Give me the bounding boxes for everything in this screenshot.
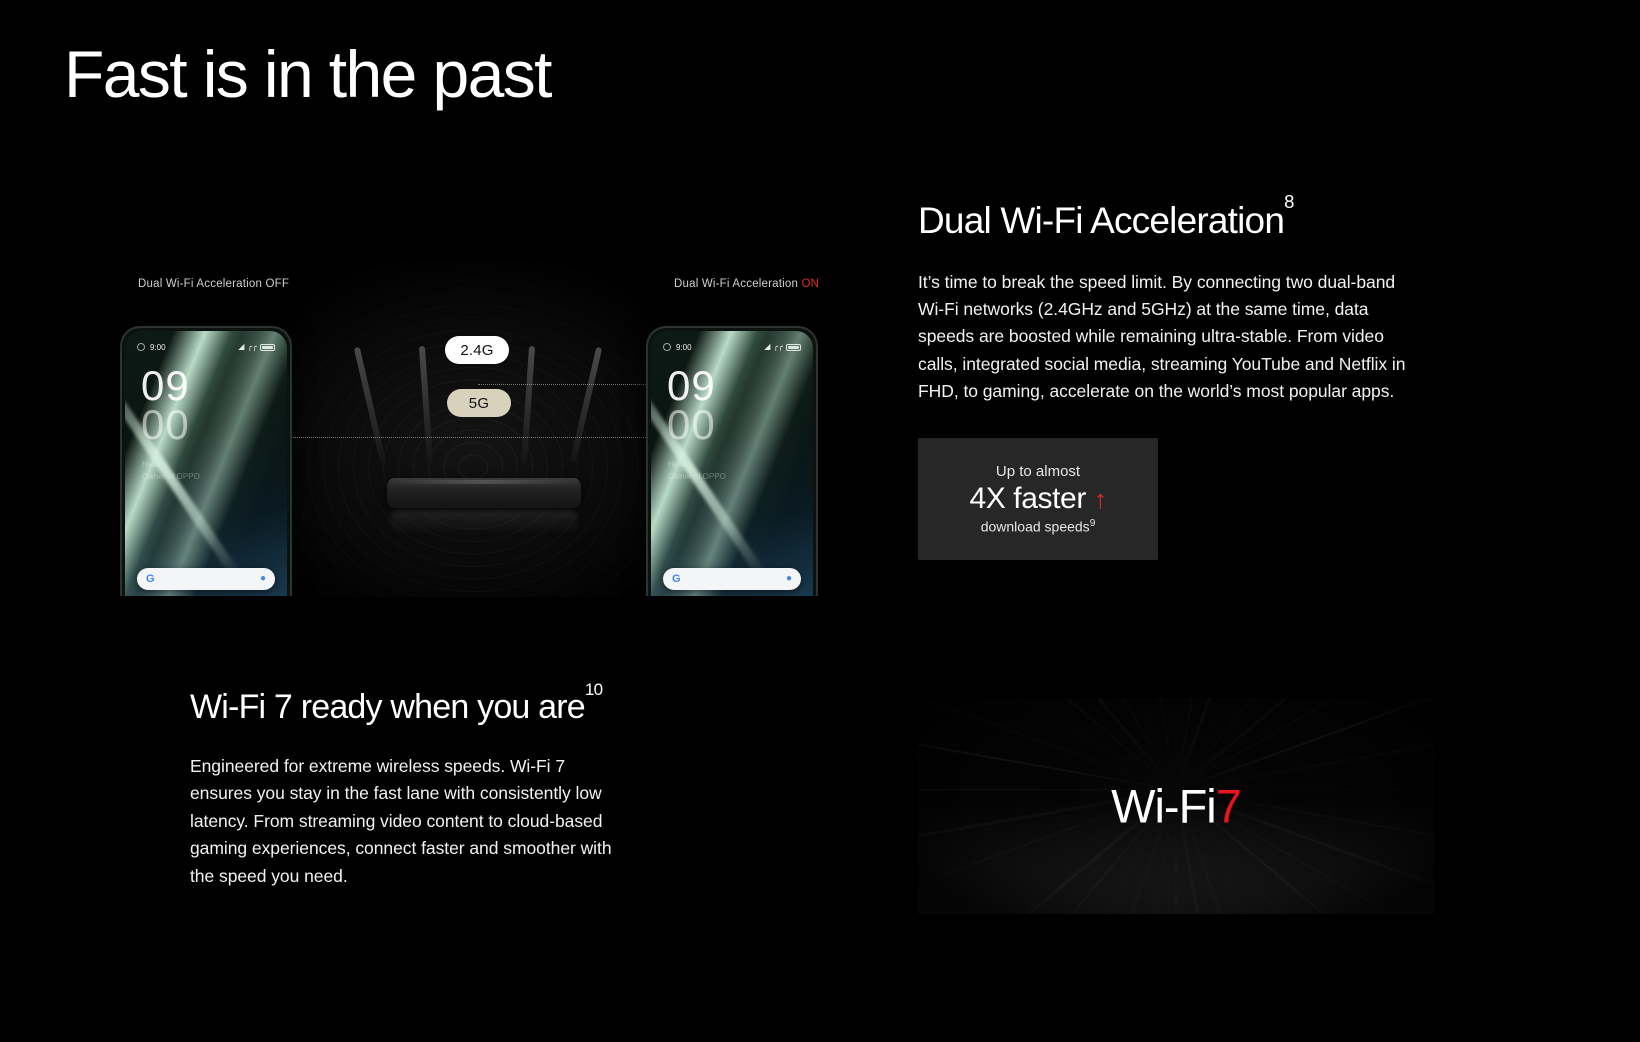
dual-wifi-heading-footnote: 8 [1284, 191, 1294, 212]
wifi7-image-panel: Wi-Fi7 [918, 698, 1434, 914]
page-root: Fast is in the past Dual Wi-Fi Accelerat… [0, 0, 1640, 1042]
label-on-state: ON [802, 278, 820, 290]
wifi-icon: ◢ [764, 343, 770, 351]
owner-line-2: Owner of OPPO [142, 471, 200, 483]
wifi-icon: ◢ [238, 343, 244, 351]
wifi7-heading-text: Wi-Fi 7 ready when you are [190, 688, 585, 726]
microphone-icon[interactable]: ● [786, 574, 792, 584]
clock-hour: 09 [141, 367, 190, 406]
statusbar-left: 9:00 [663, 343, 692, 352]
phone-right-owner-text: Hello Owner of OPPO [668, 459, 726, 483]
router-antenna-4 [570, 347, 602, 463]
stat-top-label: Up to almost [996, 463, 1080, 480]
connector-line-5g [293, 437, 706, 438]
camera-punchhole-icon [663, 343, 671, 351]
clock-minute: 00 [667, 406, 716, 445]
stat-value: 4X faster [969, 482, 1085, 516]
phone-left: 9:00 ◢ ╭╭ 09 00 Hello Owner of OPPO [120, 326, 292, 596]
statusbar-left: 9:00 [137, 343, 166, 352]
clock-hour: 09 [667, 367, 716, 406]
battery-icon [786, 344, 801, 351]
stat-bottom-text: download speeds [981, 519, 1090, 535]
badge-2-4g: 2.4G [445, 336, 509, 364]
signal-bars-icon: ╭╭ [773, 343, 783, 351]
stat-bottom-footnote: 9 [1090, 518, 1096, 529]
wifi7-heading: Wi-Fi 7 ready when you are10 [190, 688, 660, 727]
phone-right-statusbar: 9:00 ◢ ╭╭ [651, 340, 813, 354]
label-acceleration-off: Dual Wi-Fi Acceleration OFF [138, 278, 289, 290]
battery-icon [260, 344, 275, 351]
router-antenna-2 [419, 346, 433, 464]
google-logo-icon: G [672, 574, 681, 585]
wifi7-section: Wi-Fi 7 ready when you are10 Engineered … [190, 688, 660, 890]
router-body [387, 478, 581, 508]
statusbar-right: ◢ ╭╭ [238, 343, 275, 351]
dual-wifi-illustration: Dual Wi-Fi Acceleration OFF Dual Wi-Fi A… [78, 262, 868, 597]
google-search-bar[interactable]: G ● [663, 568, 801, 590]
dual-wifi-section: Dual Wi-Fi Acceleration8 It’s time to br… [918, 200, 1418, 560]
phone-left-owner-text: Hello Owner of OPPO [142, 459, 200, 483]
microphone-icon[interactable]: ● [260, 574, 266, 584]
dual-wifi-body: It’s time to break the speed limit. By c… [918, 269, 1410, 406]
camera-punchhole-icon [137, 343, 145, 351]
router: 2.4G 5G [361, 296, 607, 536]
owner-line-1: Hello [142, 459, 200, 471]
phone-right-clock: 09 00 [667, 367, 716, 444]
label-on-prefix: Dual Wi-Fi Acceleration [674, 278, 802, 290]
owner-line-1: Hello [668, 459, 726, 471]
stat-card-download-speed: Up to almost 4X faster ↑ download speeds… [918, 438, 1158, 560]
clock-minute: 00 [141, 406, 190, 445]
dual-wifi-heading: Dual Wi-Fi Acceleration8 [918, 200, 1418, 243]
phone-right: 9:00 ◢ ╭╭ 09 00 Hello Owner of OPPO [646, 326, 818, 596]
wifi7-panel-label: Wi-Fi7 [918, 779, 1434, 834]
statusbar-right: ◢ ╭╭ [764, 343, 801, 351]
arrow-up-icon: ↑ [1094, 486, 1107, 512]
wifi7-body: Engineered for extreme wireless speeds. … [190, 753, 622, 890]
signal-bars-icon: ╭╭ [247, 343, 257, 351]
stat-value-row: 4X faster ↑ [969, 482, 1106, 516]
badge-5g: 5G [447, 389, 511, 417]
router-reflection [391, 510, 577, 534]
phone-right-screen: 9:00 ◢ ╭╭ 09 00 Hello Owner of OPPO [651, 331, 813, 596]
phone-left-statusbar: 9:00 ◢ ╭╭ [125, 340, 287, 354]
dual-wifi-heading-text: Dual Wi-Fi Acceleration [918, 200, 1284, 241]
wifi7-heading-footnote: 10 [585, 680, 602, 699]
router-antenna-3 [521, 346, 535, 464]
owner-line-2: Owner of OPPO [668, 471, 726, 483]
google-logo-icon: G [146, 574, 155, 585]
statusbar-time: 9:00 [676, 343, 692, 352]
statusbar-time: 9:00 [150, 343, 166, 352]
stat-bottom-label: download speeds9 [981, 518, 1096, 535]
phone-left-clock: 09 00 [141, 367, 190, 444]
label-acceleration-on: Dual Wi-Fi Acceleration ON [674, 278, 819, 290]
phone-left-screen: 9:00 ◢ ╭╭ 09 00 Hello Owner of OPPO [125, 331, 287, 596]
wifi7-panel-prefix: Wi-Fi [1111, 780, 1216, 833]
google-search-bar[interactable]: G ● [137, 568, 275, 590]
wifi7-panel-seven: 7 [1216, 780, 1241, 833]
page-title: Fast is in the past [64, 40, 551, 109]
